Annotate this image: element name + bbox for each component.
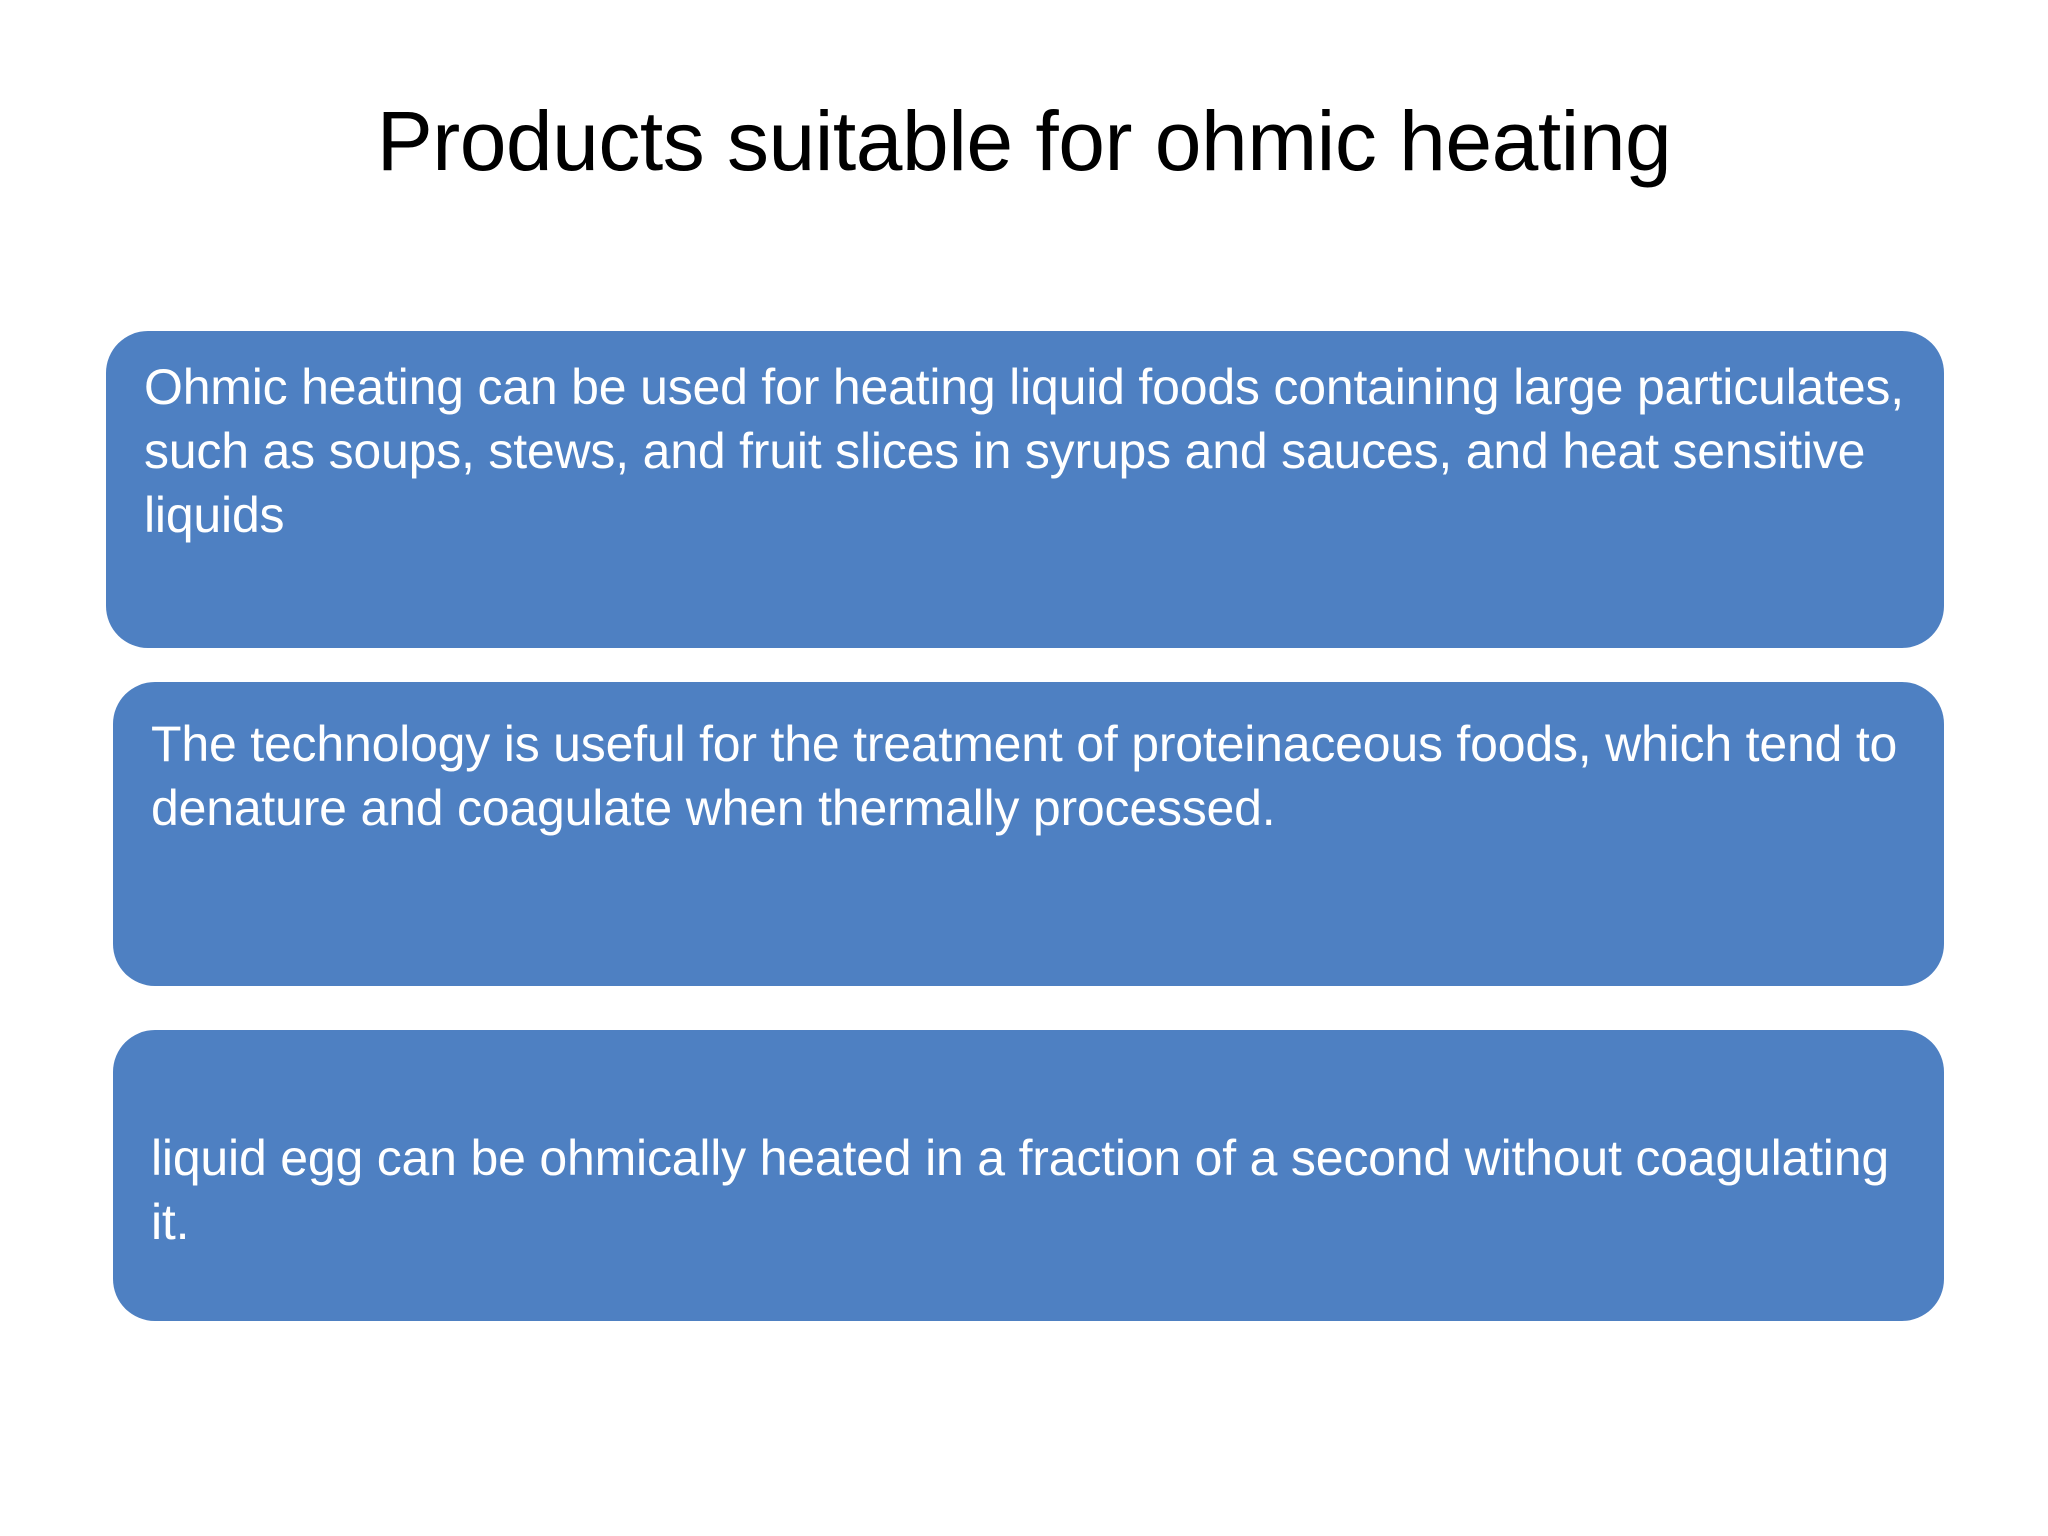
- page-title: Products suitable for ohmic heating: [0, 96, 2048, 187]
- callout-box-3[interactable]: liquid egg can be ohmically heated in a …: [113, 1030, 1944, 1321]
- callout-box-2[interactable]: The technology is useful for the treatme…: [113, 682, 1944, 986]
- callout-box-3-text: liquid egg can be ohmically heated in a …: [151, 1126, 1910, 1254]
- callout-box-1-text: Ohmic heating can be used for heating li…: [144, 355, 1910, 547]
- presentation-slide: Products suitable for ohmic heating Ohmi…: [0, 0, 2048, 1536]
- callout-box-1[interactable]: Ohmic heating can be used for heating li…: [106, 331, 1944, 648]
- callout-box-2-text: The technology is useful for the treatme…: [151, 712, 1910, 840]
